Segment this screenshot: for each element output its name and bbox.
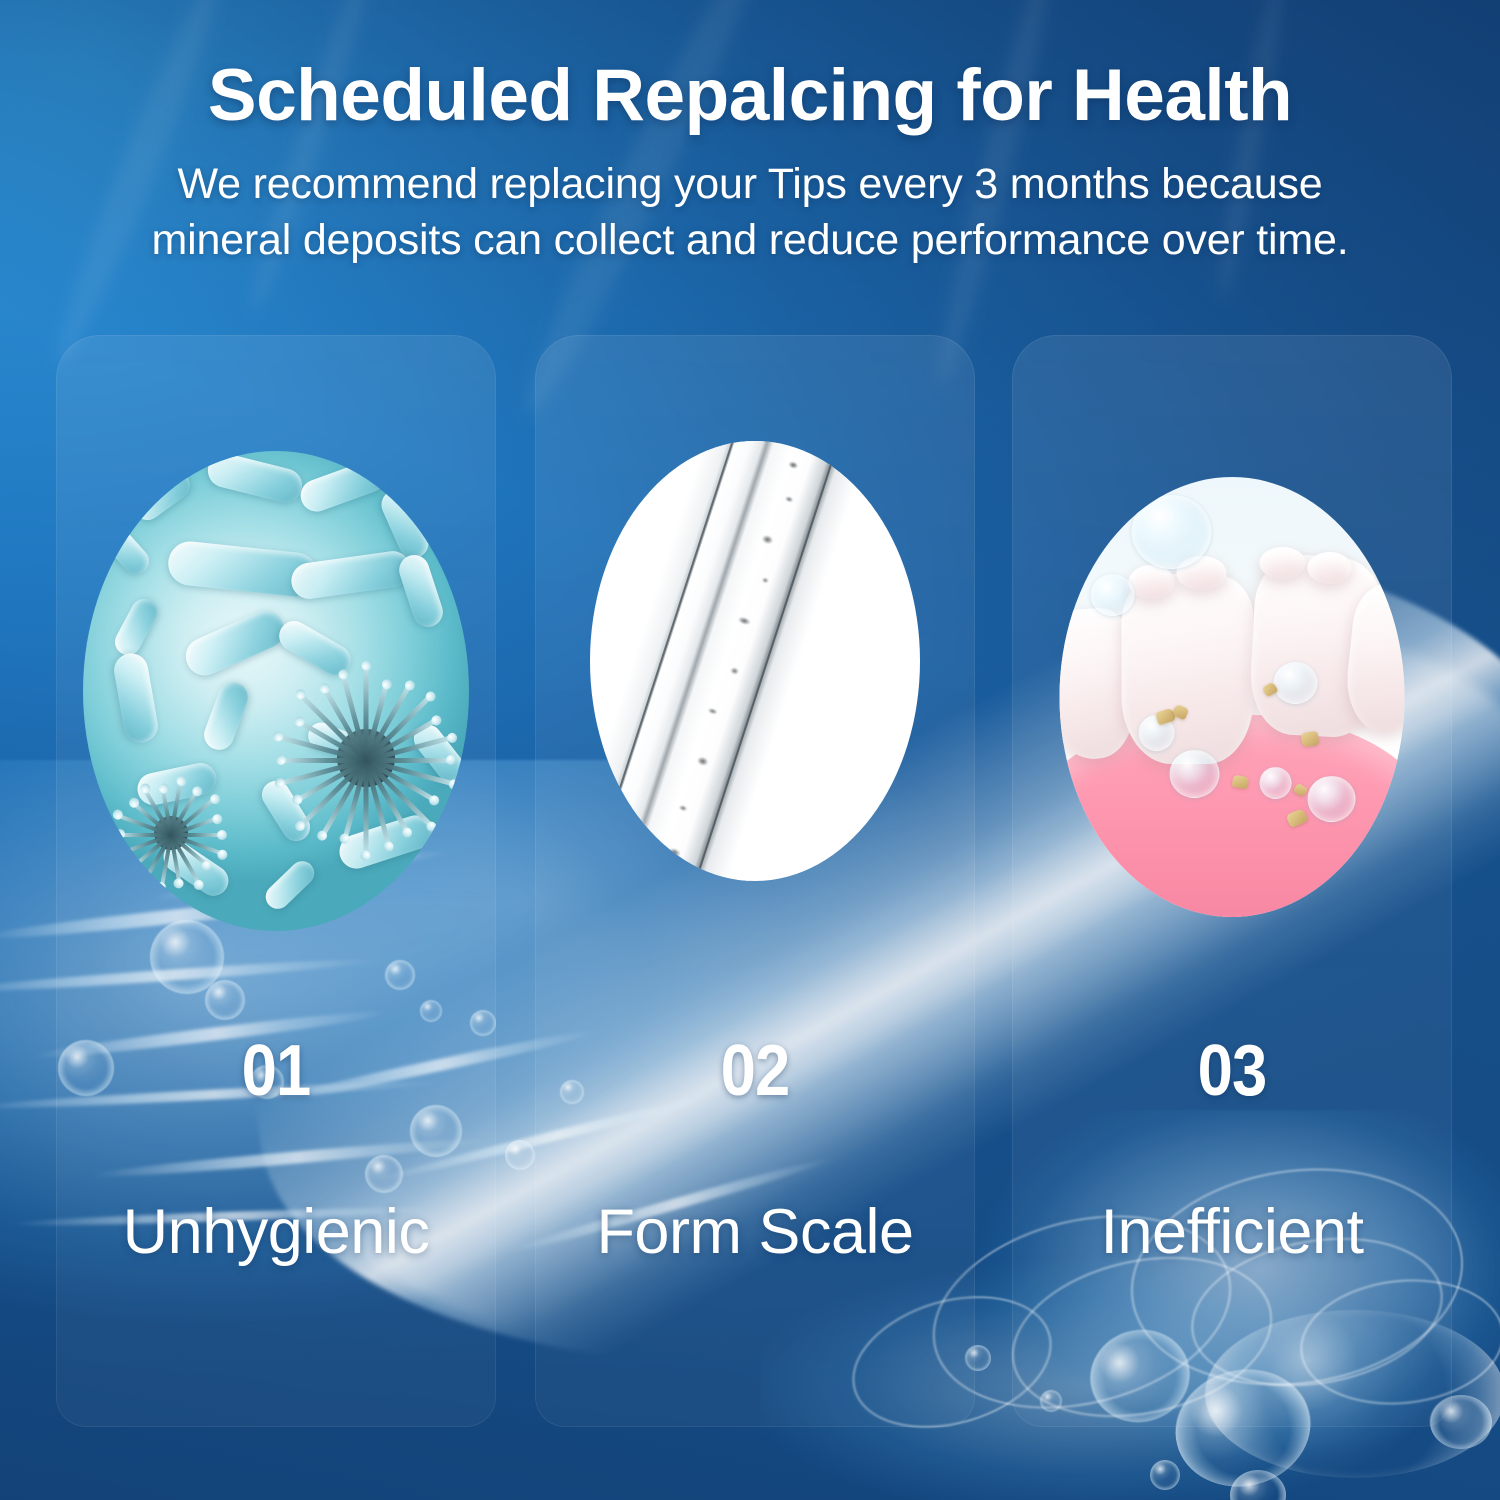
food-debris-particle	[1300, 731, 1319, 747]
card-number: 02	[561, 1035, 948, 1107]
card-caption: Inefficient	[1012, 1201, 1452, 1264]
card-caption: Form Scale	[535, 1201, 975, 1264]
scaled-nozzle-tube-photo	[590, 441, 920, 881]
card-number: 01	[82, 1035, 469, 1107]
virus-icon	[261, 653, 469, 863]
infographic-poster: Scheduled Repalcing for Health We recomm…	[0, 0, 1500, 1500]
feature-card-inefficient[interactable]: 03 Inefficient	[1012, 335, 1452, 1427]
water-droplet-icon	[1091, 574, 1135, 616]
feature-card-form-scale[interactable]: 02 Form Scale	[535, 335, 975, 1427]
water-droplet-icon	[1273, 662, 1317, 704]
feature-card-unhygienic[interactable]: 01 Unhygienic	[56, 335, 496, 1427]
bacteria-microbes-photo	[83, 451, 469, 931]
water-droplet-icon	[1170, 750, 1220, 798]
virus-icon-small	[106, 768, 236, 898]
teeth-gums-debris-illustration	[1060, 477, 1405, 917]
card-caption: Unhygienic	[56, 1201, 496, 1264]
water-droplet-icon	[1132, 495, 1212, 569]
feature-card-list: 01 Unhygienic 02 Form Scale	[0, 0, 1500, 1500]
card-number: 03	[1038, 1035, 1425, 1107]
